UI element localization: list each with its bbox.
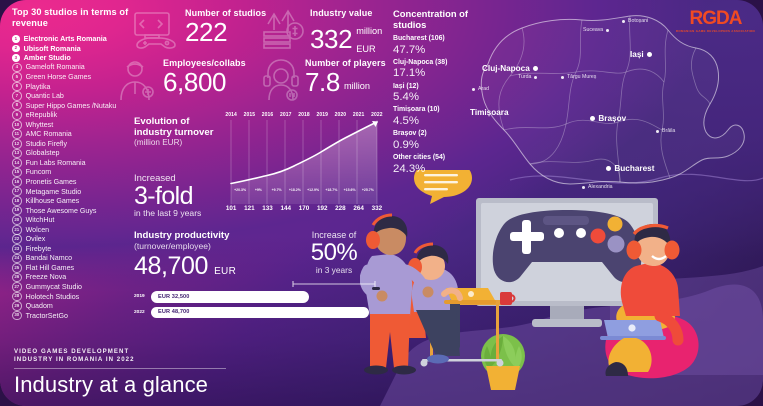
studio-name: Ubisoft Romania bbox=[24, 44, 81, 53]
evolution-annotation-trail: in the last 9 years bbox=[134, 208, 226, 218]
gamers-illustration bbox=[360, 170, 763, 406]
map-dot-icon bbox=[647, 52, 652, 57]
footer-title: Industry at a glance bbox=[14, 372, 314, 398]
list-item[interactable]: 1Electronic Arts Romania bbox=[12, 34, 136, 44]
rank-badge: 7 bbox=[12, 91, 22, 101]
concentration-city: Iași (12) bbox=[393, 83, 489, 92]
studio-name: WitchHut bbox=[26, 216, 55, 224]
studio-name: Wolcen bbox=[26, 226, 50, 234]
increase-trail: in 3 years bbox=[289, 265, 379, 275]
top-studios-title: Top 30 studios in terms of revenue bbox=[12, 7, 136, 29]
map-city-label: Turda bbox=[518, 74, 531, 80]
studio-name: Green Horse Games bbox=[26, 73, 91, 81]
studio-name: Fun Labs Romania bbox=[26, 159, 86, 167]
stat-card-employees: Employees/collabs 6,800 bbox=[163, 58, 246, 95]
concentration-item: Cluj-Napoca (38) 17.1% bbox=[393, 59, 489, 80]
rank-badge: 3 bbox=[12, 54, 20, 62]
concentration-pct: 4.5% bbox=[393, 115, 489, 127]
data-value: 144 bbox=[277, 205, 295, 212]
studio-name: AMC Romania bbox=[26, 130, 72, 138]
map-city-cluj-napoca: Cluj-Napoca bbox=[482, 64, 538, 73]
axis-tick: 2016 bbox=[258, 112, 276, 118]
growth-label: +18.2% bbox=[286, 188, 304, 192]
list-item[interactable]: 30TractorSetGo bbox=[12, 311, 136, 321]
studio-name: TractorSetGo bbox=[26, 312, 68, 320]
concentration-item: Brașov (2) 0.9% bbox=[393, 130, 489, 151]
map-dot-icon bbox=[534, 76, 537, 79]
map-city-iasi: Iași bbox=[630, 50, 652, 59]
map-city-botosani: Botoșani bbox=[622, 18, 648, 24]
axis-tick: 2017 bbox=[277, 112, 295, 118]
concentration-pct: 5.4% bbox=[393, 91, 489, 103]
studio-name: Gummycat Studio bbox=[26, 283, 82, 291]
data-value: 228 bbox=[331, 205, 349, 212]
productivity-value: 48,700 bbox=[134, 253, 208, 279]
list-item[interactable]: 4Gameloft Romania bbox=[12, 63, 136, 73]
list-item[interactable]: 6Playtika bbox=[12, 82, 136, 92]
stat-card-studios: Number of studios 222 bbox=[185, 8, 266, 45]
productivity-bars: 2019 EUR 32,500 2022 EUR 48,700 bbox=[134, 291, 384, 318]
chart-plot-area: +20.3% +9% +9.7% +18.2% +12.9% +18.7% +1… bbox=[222, 120, 386, 204]
axis-tick: 2015 bbox=[240, 112, 258, 118]
concentration-pct: 0.9% bbox=[393, 139, 489, 151]
rank-badge: 11 bbox=[12, 129, 22, 139]
map-city-label: Botoșani bbox=[628, 18, 648, 24]
stat-unit-line2: EUR bbox=[356, 44, 375, 54]
concentration-pct: 17.1% bbox=[393, 67, 489, 79]
stat-card-players: Number of players 7.8 million bbox=[305, 58, 386, 95]
productivity-unit: EUR bbox=[214, 266, 236, 277]
studio-name: Killhouse Games bbox=[26, 197, 80, 205]
map-city-label: Târgu Mureș bbox=[567, 74, 596, 80]
studio-name: Holotech Studios bbox=[26, 293, 80, 301]
map-city-suceava: Suceava bbox=[583, 27, 609, 33]
infographic-canvas: Botoșani Suceava Iași Cluj-Napoca Turda … bbox=[0, 0, 763, 406]
concentration-item: Bucharest (106) 47.7% bbox=[393, 35, 489, 56]
stat-unit: million bbox=[344, 81, 370, 91]
rank-badge: 21 bbox=[12, 225, 22, 235]
headset-player-icon bbox=[261, 58, 303, 102]
growth-label: +9.7% bbox=[268, 188, 286, 192]
axis-tick: 2022 bbox=[368, 112, 386, 118]
studio-name: Studio Firefly bbox=[26, 140, 67, 148]
rank-badge: 4 bbox=[12, 63, 22, 73]
top-studios-panel: Top 30 studios in terms of revenue 1Elec… bbox=[12, 7, 136, 320]
rgda-logo-text: RGDA bbox=[676, 9, 755, 28]
axis-tick: 2018 bbox=[295, 112, 313, 118]
growth-label: +12.9% bbox=[304, 188, 322, 192]
list-item[interactable]: 22Ovilex bbox=[12, 234, 136, 244]
increase-callout: Increase of 50% in 3 years bbox=[289, 230, 379, 293]
concentration-city: Brașov (2) bbox=[393, 130, 489, 139]
rank-badge: 16 bbox=[12, 177, 22, 187]
studio-name: Electronic Arts Romania bbox=[24, 34, 107, 43]
map-dot-icon bbox=[533, 66, 538, 71]
concentration-item: Timișoara (10) 4.5% bbox=[393, 106, 489, 127]
list-item[interactable]: 10Whyttest bbox=[12, 120, 136, 130]
bar-2022: EUR 48,700 bbox=[151, 307, 369, 319]
footer-kicker-line2: INDUSTRY IN ROMANIA IN 2022 bbox=[14, 356, 314, 364]
map-dot-icon bbox=[606, 166, 611, 171]
productivity-block: Industry productivity (turnover/employee… bbox=[134, 230, 384, 318]
map-city-label: Iași bbox=[630, 50, 644, 59]
rank-badge: 8 bbox=[12, 101, 22, 111]
rgda-logo-tagline: ROMANIAN GAME DEVELOPERS ASSOCIATION bbox=[676, 29, 755, 33]
stat-card-industry-value: Industry value 332 million EUR bbox=[310, 8, 382, 58]
map-city-targu-mures: Târgu Mureș bbox=[561, 74, 596, 80]
list-item[interactable]: 17Metagame Studio bbox=[12, 187, 136, 197]
list-item[interactable]: 12Studio Firefly bbox=[12, 139, 136, 149]
growth-label: +18.7% bbox=[322, 188, 340, 192]
rank-badge: 9 bbox=[12, 110, 22, 120]
list-item[interactable]: 27Gummycat Studio bbox=[12, 282, 136, 292]
map-city-alexandria: Alexandria bbox=[582, 184, 613, 190]
list-item[interactable]: 24Bandai Namco bbox=[12, 254, 136, 264]
data-value: 170 bbox=[295, 205, 313, 212]
stat-value: 7.8 bbox=[305, 69, 340, 95]
map-dot-icon bbox=[622, 20, 625, 23]
rank-badge: 24 bbox=[12, 254, 22, 264]
concentration-city: Bucharest (106) bbox=[393, 35, 489, 44]
romania-map: Botoșani Suceava Iași Cluj-Napoca Turda … bbox=[470, 6, 760, 202]
money-growth-icon bbox=[262, 8, 306, 50]
studio-name: Amber Studio bbox=[24, 53, 71, 62]
growth-label: +15.6% bbox=[341, 188, 359, 192]
list-item[interactable]: 5Green Horse Games bbox=[12, 72, 136, 82]
increase-value: 50% bbox=[289, 241, 379, 265]
studio-name: Quadom bbox=[26, 302, 53, 310]
stat-value: 332 bbox=[310, 26, 352, 52]
list-item[interactable]: 8Super Hippo Games /Nutaku bbox=[12, 101, 136, 111]
stat-value-row: 332 million EUR bbox=[310, 18, 382, 58]
list-item[interactable]: 23Firebyte bbox=[12, 244, 136, 254]
rank-badge: 1 bbox=[12, 35, 20, 43]
rank-badge: 26 bbox=[12, 273, 22, 283]
growth-label: +9% bbox=[249, 188, 267, 192]
list-item[interactable]: 18Killhouse Games bbox=[12, 196, 136, 206]
axis-tick: 2021 bbox=[350, 112, 368, 118]
data-value: 332 bbox=[368, 205, 386, 212]
bar-value-label: EUR 48,700 bbox=[158, 309, 189, 315]
map-dot-icon bbox=[590, 116, 595, 121]
data-value: 121 bbox=[240, 205, 258, 212]
list-item[interactable]: 15Funcom bbox=[12, 168, 136, 178]
studio-name: Freeze Nova bbox=[26, 273, 67, 281]
rank-badge: 13 bbox=[12, 149, 22, 159]
stat-value-row: 7.8 million bbox=[305, 68, 386, 95]
rank-badge: 27 bbox=[12, 282, 22, 292]
rank-badge: 23 bbox=[12, 244, 22, 254]
evolution-chart-block: Evolution of industry turnover (million … bbox=[134, 112, 386, 216]
studio-name: Playtika bbox=[26, 83, 51, 91]
list-item[interactable]: 2Ubisoft Romania bbox=[12, 44, 136, 54]
map-city-label: Cluj-Napoca bbox=[482, 64, 530, 73]
studio-name: Firebyte bbox=[26, 245, 52, 253]
axis-tick: 2014 bbox=[222, 112, 240, 118]
map-city-brasov: Brașov bbox=[590, 114, 626, 123]
list-item[interactable]: 20WitchHut bbox=[12, 215, 136, 225]
evolution-annotation-headline: 3-fold bbox=[134, 184, 226, 208]
footer-divider bbox=[14, 368, 226, 369]
map-dot-icon bbox=[561, 76, 564, 79]
rank-badge: 18 bbox=[12, 196, 22, 206]
rank-badge: 17 bbox=[12, 187, 22, 197]
studio-name: Those Awesome Guys bbox=[26, 207, 97, 215]
concentration-item: Other cities (54) 24.3% bbox=[393, 154, 489, 175]
growth-label: +20.3% bbox=[231, 188, 249, 192]
stat-unit-line1: million bbox=[356, 26, 382, 36]
range-bracket-icon bbox=[291, 280, 377, 288]
rank-badge: 2 bbox=[12, 45, 20, 53]
rank-badge: 12 bbox=[12, 139, 22, 149]
studio-name: Gameloft Romania bbox=[26, 63, 85, 71]
data-value: 264 bbox=[350, 205, 368, 212]
chart-x-axis-labels: 2014 2015 2016 2017 2018 2019 2020 2021 … bbox=[222, 112, 386, 118]
list-item[interactable]: 28Holotech Studios bbox=[12, 292, 136, 302]
rank-badge: 22 bbox=[12, 234, 22, 244]
rank-badge: 6 bbox=[12, 82, 22, 92]
concentration-item: Iași (12) 5.4% bbox=[393, 83, 489, 104]
concentration-pct: 47.7% bbox=[393, 44, 489, 56]
evolution-plot: 2014 2015 2016 2017 2018 2019 2020 2021 … bbox=[222, 112, 386, 216]
rank-badge: 29 bbox=[12, 301, 22, 311]
map-city-turda: Turda bbox=[518, 74, 537, 80]
rank-badge: 19 bbox=[12, 206, 22, 216]
footer-banner: VIDEO GAMES DEVELOPMENT INDUSTRY IN ROMA… bbox=[14, 348, 314, 398]
studio-name: Ovilex bbox=[26, 235, 46, 243]
bar-row-2022: 2022 EUR 48,700 bbox=[134, 307, 384, 319]
rank-badge: 14 bbox=[12, 158, 22, 168]
map-city-label: Suceava bbox=[583, 27, 603, 33]
map-dot-icon bbox=[656, 130, 659, 133]
studio-name: eRepublik bbox=[26, 111, 58, 119]
map-city-label: Bucharest bbox=[614, 164, 654, 173]
map-dot-icon bbox=[582, 186, 585, 189]
rank-badge: 25 bbox=[12, 263, 22, 273]
list-item[interactable]: 11AMC Romania bbox=[12, 129, 136, 139]
map-city-label: Brașov bbox=[598, 114, 626, 123]
concentration-city: Cluj-Napoca (38) bbox=[393, 59, 489, 68]
map-dot-icon bbox=[606, 29, 609, 32]
bar-2019: EUR 32,500 bbox=[151, 291, 309, 303]
studio-name: Quantic Lab bbox=[26, 92, 64, 100]
studio-name: Metagame Studio bbox=[26, 188, 82, 196]
data-value: 133 bbox=[258, 205, 276, 212]
bar-value-label: EUR 32,500 bbox=[158, 294, 189, 300]
studio-name: Whyttest bbox=[26, 121, 54, 129]
list-item[interactable]: 29Quadom bbox=[12, 301, 136, 311]
evolution-text: Evolution of industry turnover (million … bbox=[134, 116, 226, 218]
concentration-panel: Concentration of studios Bucharest (106)… bbox=[393, 8, 489, 175]
studio-name: Globalstep bbox=[26, 149, 60, 157]
studio-name: Funcom bbox=[26, 168, 52, 176]
stat-value: 222 bbox=[185, 19, 266, 45]
footer-kicker-line1: VIDEO GAMES DEVELOPMENT bbox=[14, 348, 314, 356]
concentration-pct: 24.3% bbox=[393, 163, 489, 175]
list-item[interactable]: 21Wolcen bbox=[12, 225, 136, 235]
evolution-title: Evolution of industry turnover bbox=[134, 116, 226, 138]
studio-name: Pronetis Games bbox=[26, 178, 77, 186]
studio-name: Bandai Namco bbox=[26, 254, 73, 262]
list-item[interactable]: 19Those Awesome Guys bbox=[12, 206, 136, 216]
growth-label: +25.7% bbox=[359, 188, 377, 192]
rank-badge: 20 bbox=[12, 215, 22, 225]
data-value: 101 bbox=[222, 205, 240, 212]
list-item[interactable]: 3Amber Studio bbox=[12, 53, 136, 63]
studio-name: Flat Hill Games bbox=[26, 264, 74, 272]
list-item[interactable]: 9eRepublik bbox=[12, 110, 136, 120]
concentration-city: Timișoara (10) bbox=[393, 106, 489, 115]
map-city-bucharest: Bucharest bbox=[606, 164, 654, 173]
chart-value-labels: 101 121 133 144 170 192 228 264 332 bbox=[222, 205, 386, 212]
list-item[interactable]: 14Fun Labs Romania bbox=[12, 158, 136, 168]
data-value: 192 bbox=[313, 205, 331, 212]
studio-name: Super Hippo Games /Nutaku bbox=[26, 102, 117, 110]
map-city-braila: Brăila bbox=[656, 128, 675, 134]
axis-tick: 2020 bbox=[331, 112, 349, 118]
list-item[interactable]: 16Pronetis Games bbox=[12, 177, 136, 187]
rank-badge: 10 bbox=[12, 120, 22, 130]
evolution-subtitle: (million EUR) bbox=[134, 138, 226, 148]
list-item[interactable]: 7Quantic Lab bbox=[12, 91, 136, 101]
stat-value: 6,800 bbox=[163, 69, 246, 95]
map-city-label: Brăila bbox=[662, 128, 675, 134]
concentration-title: Concentration of studios bbox=[393, 8, 489, 30]
axis-tick: 2019 bbox=[313, 112, 331, 118]
concentration-city: Other cities (54) bbox=[393, 154, 489, 163]
rank-badge: 30 bbox=[12, 311, 22, 321]
rank-badge: 5 bbox=[12, 72, 22, 82]
rgda-logo[interactable]: RGDA ROMANIAN GAME DEVELOPERS ASSOCIATIO… bbox=[676, 9, 755, 33]
monitor-gamepad-icon bbox=[133, 10, 179, 50]
list-item[interactable]: 25Flat Hill Games bbox=[12, 263, 136, 273]
chart-growth-labels: +20.3% +9% +9.7% +18.2% +12.9% +18.7% +1… bbox=[222, 188, 386, 192]
stat-label: Industry value bbox=[310, 8, 382, 18]
rank-badge: 28 bbox=[12, 292, 22, 302]
list-item[interactable]: 26Freeze Nova bbox=[12, 273, 136, 283]
list-item[interactable]: 13Globalstep bbox=[12, 149, 136, 159]
map-city-label: Alexandria bbox=[588, 184, 613, 190]
stat-unit: million EUR bbox=[356, 22, 382, 58]
top-studios-list: 1Electronic Arts Romania 2Ubisoft Romani… bbox=[12, 34, 136, 320]
rank-badge: 15 bbox=[12, 168, 22, 178]
